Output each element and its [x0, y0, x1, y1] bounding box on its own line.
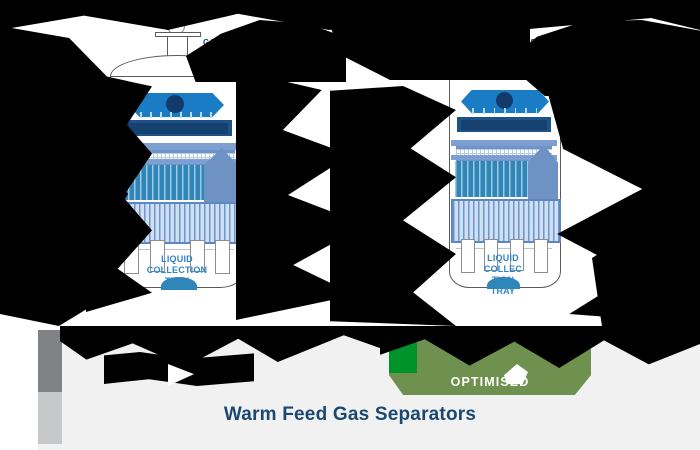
gas-outlet-flange-left	[155, 32, 201, 37]
liquid-pool-right	[487, 277, 520, 289]
liquid-pool-left	[161, 277, 197, 290]
structured-packing-right	[451, 199, 561, 243]
downcomer-right-4	[534, 239, 548, 273]
distributor-band-left	[126, 123, 228, 134]
downcomer-left-4	[215, 240, 230, 274]
optimised-badge-label: OPTIMISED	[389, 375, 591, 389]
caption-swatch-dark	[38, 330, 62, 392]
tray-label-line-2: COLLECTION	[146, 265, 208, 276]
inlet-hub-right	[496, 92, 513, 109]
tray-label-right: LIQUID COLLEC TION TRAY	[478, 253, 528, 297]
tray-label-line-1: LIQUID	[478, 253, 528, 264]
inlet-vanes-right	[468, 108, 542, 114]
redaction-block-8	[330, 86, 456, 326]
tray-label-line-1: LIQUID	[146, 254, 208, 265]
inlet-hub-left	[166, 95, 184, 113]
caption-left-white	[0, 330, 38, 450]
downcomer-right-1	[461, 239, 475, 273]
redaction-block-3	[330, 0, 530, 80]
figure-root: PI LIQUID	[0, 0, 700, 450]
redaction-block-2	[186, 20, 346, 82]
inlet-vanes-left	[136, 112, 216, 118]
tray-label-line-2: COLLEC	[478, 264, 528, 275]
figure-caption: Warm Feed Gas Separators	[0, 404, 700, 426]
distributor-band-right	[461, 120, 547, 130]
